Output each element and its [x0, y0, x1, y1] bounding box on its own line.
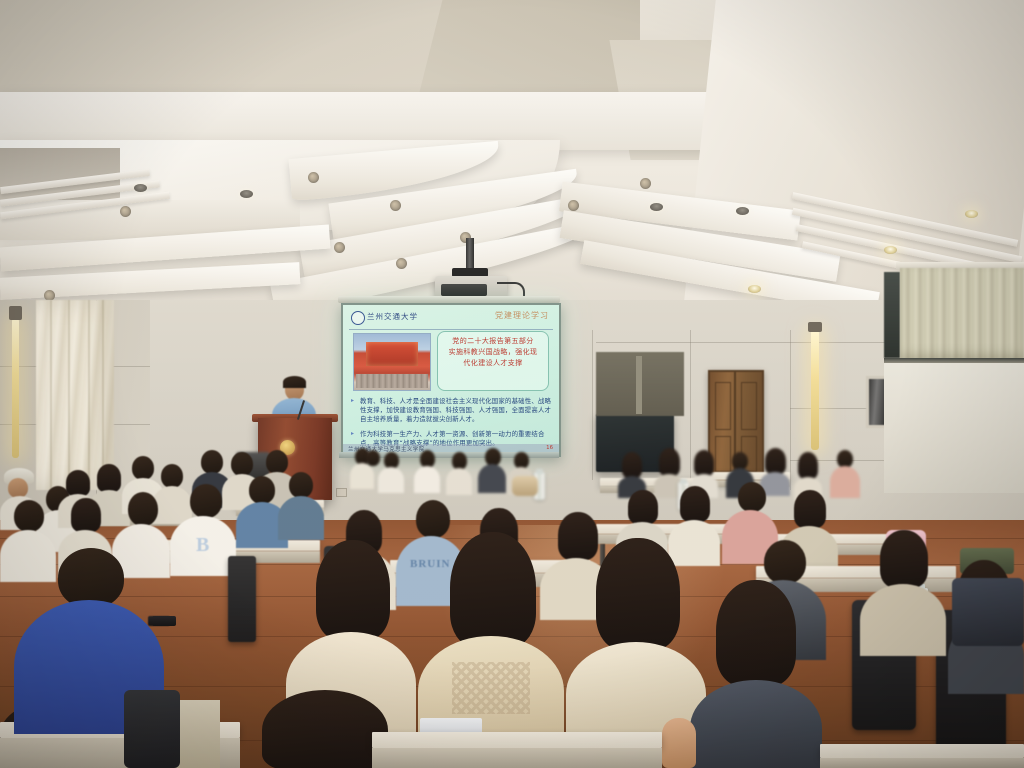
- shirt-logo-b: B: [196, 534, 209, 557]
- projector-pole: [466, 238, 474, 272]
- phone-left-desk[interactable]: [152, 616, 176, 626]
- ceiling-spotlight-1: [134, 184, 147, 192]
- ceiling-fixture-2: [390, 200, 401, 211]
- audience-member-b7: [362, 450, 384, 486]
- slide-header: 兰州交通大学 党建理论学习: [349, 309, 553, 330]
- lace-pattern: [452, 662, 530, 714]
- ceiling-fixture-6: [568, 200, 579, 211]
- slide-photo-seating: [356, 374, 428, 388]
- slide-ornament-text: 党建理论学习: [495, 310, 549, 321]
- ceiling-fixture-1: [308, 172, 319, 183]
- slide-title-line-3: 代化建设人才支撑: [443, 358, 543, 369]
- audience-member-fg2: [418, 532, 564, 738]
- screen-housing: [338, 296, 560, 303]
- ceiling-fixture-8: [120, 206, 131, 217]
- slide-photo: [353, 333, 431, 391]
- ceiling-fixture-7: [640, 178, 651, 189]
- audience-member-s4-b-shirt: B: [170, 484, 236, 574]
- ceiling-spotlight-3: [650, 203, 663, 211]
- desk-foreground-right: [820, 744, 1024, 758]
- black-backpack: [124, 690, 180, 768]
- lecture-hall-photo: 兰州交通大学 党建理论学习 党的二十大报告第五部分 实施科教兴国战略，强化现 代…: [0, 0, 1024, 768]
- ceiling-spotlight-2: [240, 190, 253, 198]
- slide-university-name: 兰州交通大学: [367, 311, 418, 322]
- handbag-back: [512, 476, 538, 496]
- ceiling-spotlight-7: [748, 285, 761, 293]
- desk-foreground-center-panel: [372, 748, 662, 768]
- vertical-blinds[interactable]: [900, 268, 1024, 360]
- slide-title-line-2: 实施科教兴国战略，强化现: [443, 347, 543, 358]
- wall-outlet-2[interactable]: [336, 488, 347, 497]
- slide-bullet-1-text: 教育、科技、人才是全面建设社会主义现代化国家的基础性、战略性支撑，加快建设教育强…: [360, 397, 553, 425]
- wall-light-left-cap: [9, 306, 22, 320]
- ceiling-fixture-4: [396, 258, 407, 269]
- ceiling-fixture-3: [334, 242, 345, 253]
- ceiling: [0, 0, 1024, 330]
- wall-light-left: [12, 318, 19, 458]
- desk-foreground-right-panel: [820, 758, 1024, 768]
- desk-foreground-center: [372, 732, 662, 748]
- wall-light-right-cap: [808, 322, 822, 332]
- raised-hand: [662, 718, 696, 768]
- curtain-left: [36, 300, 114, 490]
- slide-title-box: 党的二十大报告第五部分 实施科教兴国战略，强化现 代化建设人才支撑: [437, 331, 549, 391]
- audience-member-rc6: [860, 530, 946, 650]
- slide-photo-stage: [366, 342, 418, 366]
- wall-seam-6: [790, 330, 791, 490]
- ceiling-spotlight-4: [736, 207, 749, 215]
- slide-page-number: 16: [546, 445, 553, 451]
- chair-1[interactable]: [228, 556, 256, 642]
- slide-title-line-1: 党的二十大报告第五部分: [443, 336, 543, 347]
- audience-member-b3: [414, 450, 440, 492]
- ceiling-spotlight-5: [965, 210, 978, 218]
- audience-member-b4: [446, 452, 472, 494]
- audience-member-b5: [478, 448, 506, 492]
- ceiling-spotlight-6: [884, 246, 897, 254]
- right-wall-lower: [884, 363, 1024, 493]
- audience-member-fg4: [690, 580, 822, 768]
- wall-seam-4: [592, 330, 593, 480]
- projection-screen: 兰州交通大学 党建理论学习 党的二十大报告第五部分 实施科教兴国战略，强化现 代…: [341, 303, 561, 457]
- university-logo-icon: [351, 311, 365, 325]
- audience-member-fg3: [566, 538, 706, 738]
- audience-member-s6: [278, 472, 324, 538]
- wall-light-right: [811, 330, 819, 450]
- wall-seam-7: [596, 342, 896, 343]
- wall-recess-strip: [636, 356, 642, 414]
- projector-lens-icon: [441, 284, 487, 296]
- window-gap: [884, 272, 900, 358]
- coat-on-chair: [952, 578, 1024, 646]
- slide-bullet-1: 教育、科技、人才是全面建设社会主义现代化国家的基础性、战略性支撑，加快建设教育强…: [351, 397, 553, 425]
